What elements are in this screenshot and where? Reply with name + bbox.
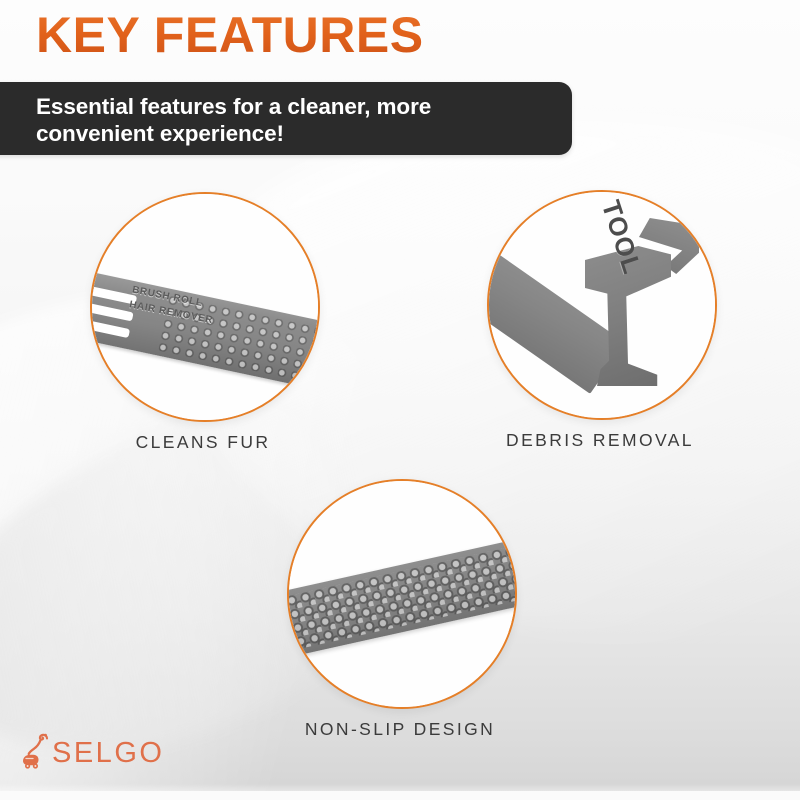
feature-image-circle: T TOOL: [487, 190, 717, 420]
brand-name: SELGO: [52, 739, 164, 768]
feature-caption: DEBRIS REMOVAL: [506, 430, 694, 451]
feature-card-cleans-fur: BRUSH ROLL HAIR REMOVER CLEANS FUR: [90, 192, 316, 422]
dimple-texture: [287, 542, 517, 653]
feature-image-circle: BRUSH ROLL HAIR REMOVER: [90, 192, 320, 422]
tool-emboss-text: T TOOL: [567, 210, 668, 241]
brush-roll-hair-remover-photo: BRUSH ROLL HAIR REMOVER: [92, 194, 318, 420]
comb-tooth-gap: [90, 303, 134, 321]
grip-strip: [287, 534, 517, 661]
feature-infographic-page: KEY FEATURES Essential features for a cl…: [0, 0, 800, 800]
feature-card-debris-removal: T TOOL DEBRIS REMOVAL: [487, 190, 713, 420]
feature-caption: NON-SLIP DESIGN: [305, 719, 495, 740]
non-slip-grip-photo: [289, 481, 515, 707]
background-bottom-strip: [0, 791, 800, 800]
subtitle-text: Essential features for a cleaner, more c…: [36, 93, 552, 148]
page-title: KEY FEATURES: [36, 9, 424, 62]
feature-caption: CLEANS FUR: [136, 432, 271, 453]
feature-image-circle: [287, 479, 517, 709]
brand-logo: SELGO: [20, 731, 164, 775]
tool-body: BRUSH ROLL HAIR REMOVER: [90, 273, 320, 391]
subtitle-banner: Essential features for a cleaner, more c…: [0, 82, 572, 155]
comb-tooth-gap: [90, 320, 130, 338]
debris-removal-tool-photo: T TOOL: [489, 192, 715, 418]
feature-card-non-slip-design: NON-SLIP DESIGN: [287, 479, 513, 709]
